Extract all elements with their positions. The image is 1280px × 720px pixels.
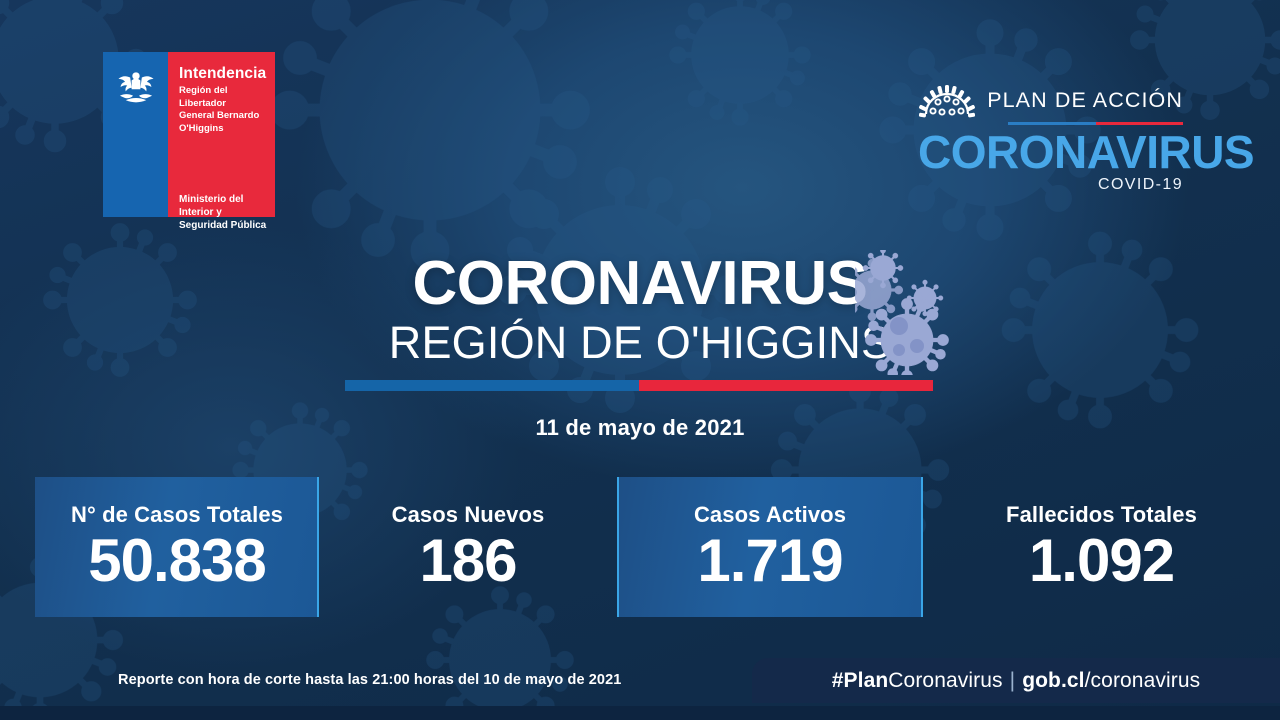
coronavirus-brand-text: CORONAVIRUS [918,129,1183,175]
footer-separator: | [1003,669,1023,692]
footer-link-text: #PlanCoronavirus|gob.cl/coronavirus [832,669,1200,693]
report-cutoff-note: Reporte con hora de corte hasta las 21:0… [118,672,621,688]
chile-coat-of-arms-icon [114,68,158,106]
plan-de-accion-lockup: PLAN DE ACCIÓN CORONAVIRUS COVID-19 [918,80,1183,194]
logo-ministry-line: Ministerio del [179,193,275,206]
stats-left-spacer [0,477,35,617]
coronavirus-cluster-icon [855,250,970,375]
stat-label: Fallecidos Totales [1006,502,1197,528]
stat-casos-nuevos: Casos Nuevos 186 [319,477,617,617]
infographic-canvas: Intendencia Región del Libertador Genera… [0,0,1280,720]
stat-value: 1.719 [697,529,842,592]
plan-de-accion-text: PLAN DE ACCIÓN [987,88,1183,113]
logo-subtitle: Región del Libertador General Bernardo O… [179,85,275,136]
footer-site-bold: gob.cl [1022,669,1084,692]
intendencia-logo: Intendencia Región del Libertador Genera… [103,52,275,217]
logo-title: Intendencia [179,65,275,82]
logo-blue-panel [103,52,168,217]
plan-flag-rule [1008,122,1183,125]
stat-casos-totales: N° de Casos Totales 50.838 [35,477,319,617]
report-date: 11 de mayo de 2021 [0,415,1280,441]
panel-accent-edge [617,477,619,617]
stat-fallecidos-totales: Fallecidos Totales 1.092 [923,477,1280,617]
stat-value: 186 [419,529,516,592]
stats-strip: N° de Casos Totales 50.838 Casos Nuevos … [0,477,1280,617]
footer-link-pill[interactable]: #PlanCoronavirus|gob.cl/coronavirus [752,658,1280,703]
footer-hashtag-rest: Coronavirus [888,669,1002,692]
covid19-text: COVID-19 [918,176,1183,194]
footer-hashtag-bold: #Plan [832,669,889,692]
logo-subtitle-line: General Bernardo [179,110,275,123]
logo-ministry: Ministerio del Interior y Seguridad Públ… [179,193,275,233]
coronavirus-particle-icon [916,80,978,120]
stat-value: 50.838 [88,529,266,592]
footer-bottom-strip [0,706,1280,720]
page-title: CORONAVIRUS REGIÓN DE O'HIGGINS [0,252,1280,369]
title-subtitle: REGIÓN DE O'HIGGINS [0,318,1280,368]
logo-red-panel: Intendencia Región del Libertador Genera… [168,52,275,217]
title-flag-rule [345,380,933,391]
logo-subtitle-line: Región del Libertador [179,85,275,110]
stat-value: 1.092 [1029,529,1174,592]
stat-label: Casos Nuevos [392,502,545,528]
stat-label: N° de Casos Totales [71,502,283,528]
logo-subtitle-line: O'Higgins [179,123,275,136]
stat-casos-activos: Casos Activos 1.719 [617,477,923,617]
footer-site-rest: /coronavirus [1085,669,1201,692]
logo-ministry-line: Seguridad Pública [179,219,275,232]
title-main: CORONAVIRUS [0,252,1280,316]
stat-label: Casos Activos [694,502,846,528]
logo-ministry-line: Interior y [179,206,275,219]
